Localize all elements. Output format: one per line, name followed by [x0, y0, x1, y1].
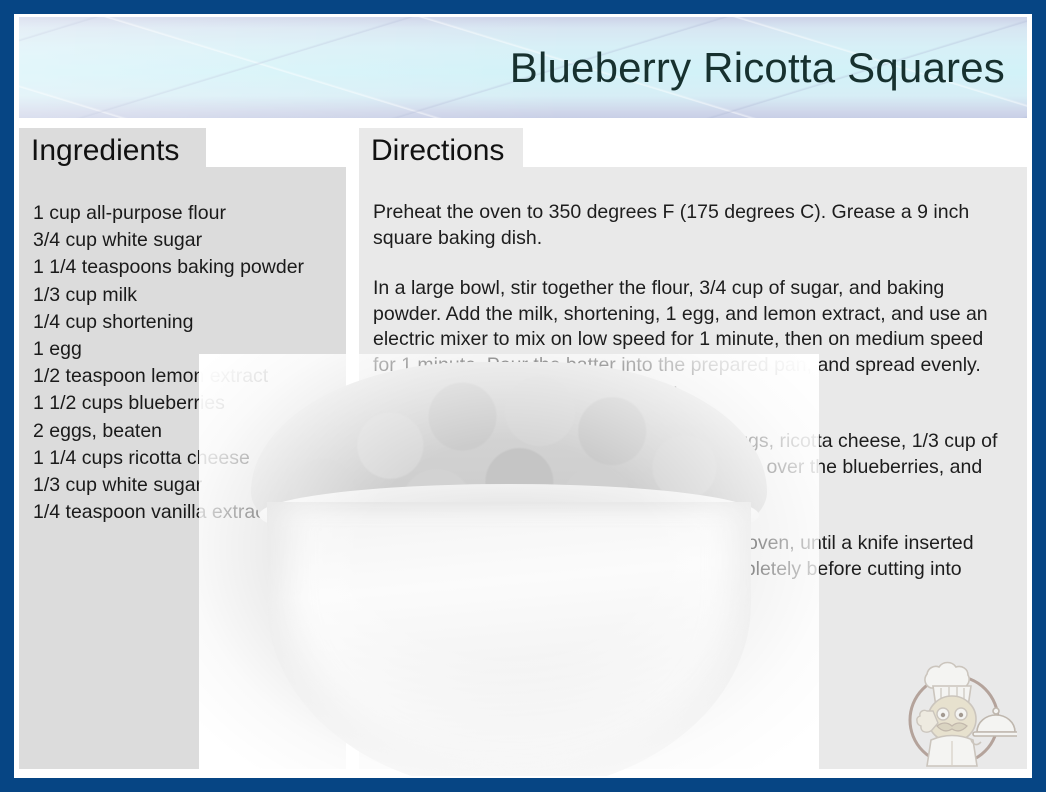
- list-item: 2 eggs, beaten: [33, 418, 336, 445]
- list-item: 1/3 cup milk: [33, 282, 336, 309]
- directions-panel: Preheat the oven to 350 degrees F (175 d…: [359, 167, 1027, 769]
- ingredients-list: 1 cup all-purpose flour 3/4 cup white su…: [19, 167, 346, 526]
- tab-directions-label: Directions: [371, 132, 523, 170]
- direction-step: Bake for 55 to 60 minutes in the preheat…: [373, 531, 1009, 608]
- ingredients-panel: 1 cup all-purpose flour 3/4 cup white su…: [19, 167, 346, 769]
- direction-step: In a large bowl, stir together the flour…: [373, 276, 1009, 404]
- directions-text: Preheat the oven to 350 degrees F (175 d…: [359, 167, 1027, 608]
- content-panels: 1 cup all-purpose flour 3/4 cup white su…: [19, 122, 1027, 776]
- list-item: 1/4 teaspoon vanilla extract: [33, 499, 336, 526]
- tab-ingredients-label: Ingredients: [31, 132, 206, 170]
- direction-step: Preheat the oven to 350 degrees F (175 d…: [373, 200, 1009, 251]
- list-item: 1/2 teaspoon lemon extract: [33, 363, 336, 390]
- list-item: 1/4 cup shortening: [33, 309, 336, 336]
- tab-directions: Directions: [359, 128, 523, 173]
- list-item: 1 1/4 cups ricotta cheese: [33, 445, 336, 472]
- header-banner: Blueberry Ricotta Squares: [19, 17, 1027, 118]
- recipe-card: Blueberry Ricotta Squares 1 cup all-purp…: [0, 0, 1046, 792]
- page-title: Blueberry Ricotta Squares: [510, 47, 1005, 89]
- tab-ingredients: Ingredients: [19, 128, 206, 173]
- list-item: 1 1/4 teaspoons baking powder: [33, 254, 336, 281]
- list-item: 1/3 cup white sugar: [33, 472, 336, 499]
- list-item: 1 cup all-purpose flour: [33, 200, 336, 227]
- direction-step: In a medium bowl, stir together 2 beaten…: [373, 429, 1009, 506]
- list-item: 3/4 cup white sugar: [33, 227, 336, 254]
- list-item: 1 1/2 cups blueberries: [33, 390, 336, 417]
- list-item: 1 egg: [33, 336, 336, 363]
- recipe-sheet: Blueberry Ricotta Squares 1 cup all-purp…: [14, 14, 1032, 778]
